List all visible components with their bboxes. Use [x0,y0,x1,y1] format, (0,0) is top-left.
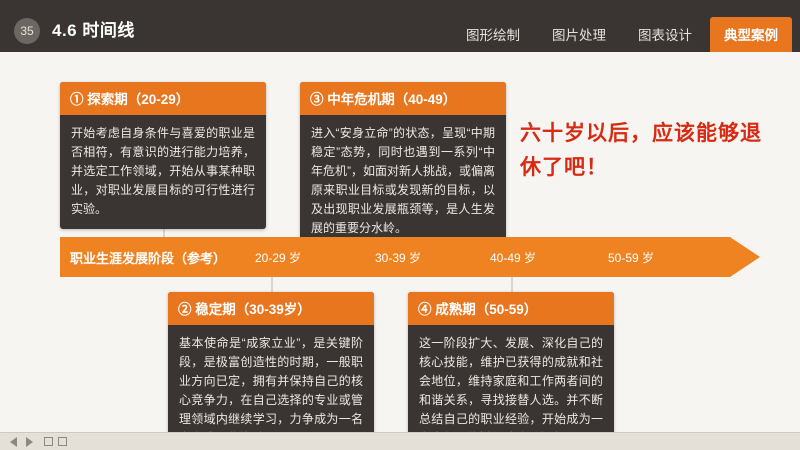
tab-graphics[interactable]: 图形绘制 [452,17,534,52]
card-title: ② 稳定期（30-39岁） [168,292,374,325]
page-title: 4.6 时间线 [52,16,135,41]
card-stable-stage[interactable]: ② 稳定期（30-39岁） 基本使命是“成家立业”，是关键阶段，是极富创造性的时… [168,292,374,450]
tab-image-processing[interactable]: 图片处理 [538,17,620,52]
timeline-tick-30-39: 30-39 岁 [375,249,421,266]
card-midlife-crisis-stage[interactable]: ③ 中年危机期（40-49） 进入“安身立命”的状态，呈现“中期稳定”态势，同时… [300,82,506,248]
timeline-label: 职业生涯发展阶段（参考） [70,248,226,267]
slide-header: 35 4.6 时间线 图形绘制 图片处理 图表设计 典型案例 [0,0,800,52]
slide-number-badge: 35 [14,18,40,44]
timeline-arrow: 职业生涯发展阶段（参考） 20-29 岁 30-39 岁 40-49 岁 50-… [60,237,760,277]
card-title: ④ 成熟期（50-59） [408,292,614,325]
card-exploration-stage[interactable]: ① 探索期（20-29） 开始考虑自身条件与喜爱的职业是否相符，有意识的进行能力… [60,82,266,229]
connector-stem-2 [271,277,273,292]
triangle-left-icon[interactable] [10,437,17,447]
slide-footer [0,432,800,450]
header-tabs: 图形绘制 图片处理 图表设计 典型案例 [448,14,792,52]
timeline-tick-40-49: 40-49 岁 [490,249,536,266]
timeline-tick-50-59: 50-59 岁 [608,249,654,266]
card-mature-stage[interactable]: ④ 成熟期（50-59） 这一阶段扩大、发展、深化自己的核心技能，维护已获得的成… [408,292,614,450]
card-text: 开始考虑自身条件与喜爱的职业是否相符，有意识的进行能力培养，并选定工作领域，开始… [60,115,266,229]
slide-canvas: 35 4.6 时间线 图形绘制 图片处理 图表设计 典型案例 ① 探索期（20-… [0,0,800,450]
highlight-note: 六十岁以后，应该能够退休了吧！ [520,117,770,185]
timeline-tick-20-29: 20-29 岁 [255,249,301,266]
square-icon-b[interactable] [58,437,67,446]
card-text: 进入“安身立命”的状态，呈现“中期稳定”态势，同时也遇到一系列“中年危机”，如面… [300,115,506,248]
tab-chart-design[interactable]: 图表设计 [624,17,706,52]
card-title: ③ 中年危机期（40-49） [300,82,506,115]
card-title: ① 探索期（20-29） [60,82,266,115]
triangle-right-icon[interactable] [26,437,33,447]
square-icon-a[interactable] [44,437,53,446]
timeline-arrow-head-icon [730,237,760,277]
slide-body: ① 探索期（20-29） 开始考虑自身条件与喜爱的职业是否相符，有意识的进行能力… [0,52,800,432]
connector-stem-4 [511,277,513,292]
tab-typical-cases[interactable]: 典型案例 [710,17,792,52]
